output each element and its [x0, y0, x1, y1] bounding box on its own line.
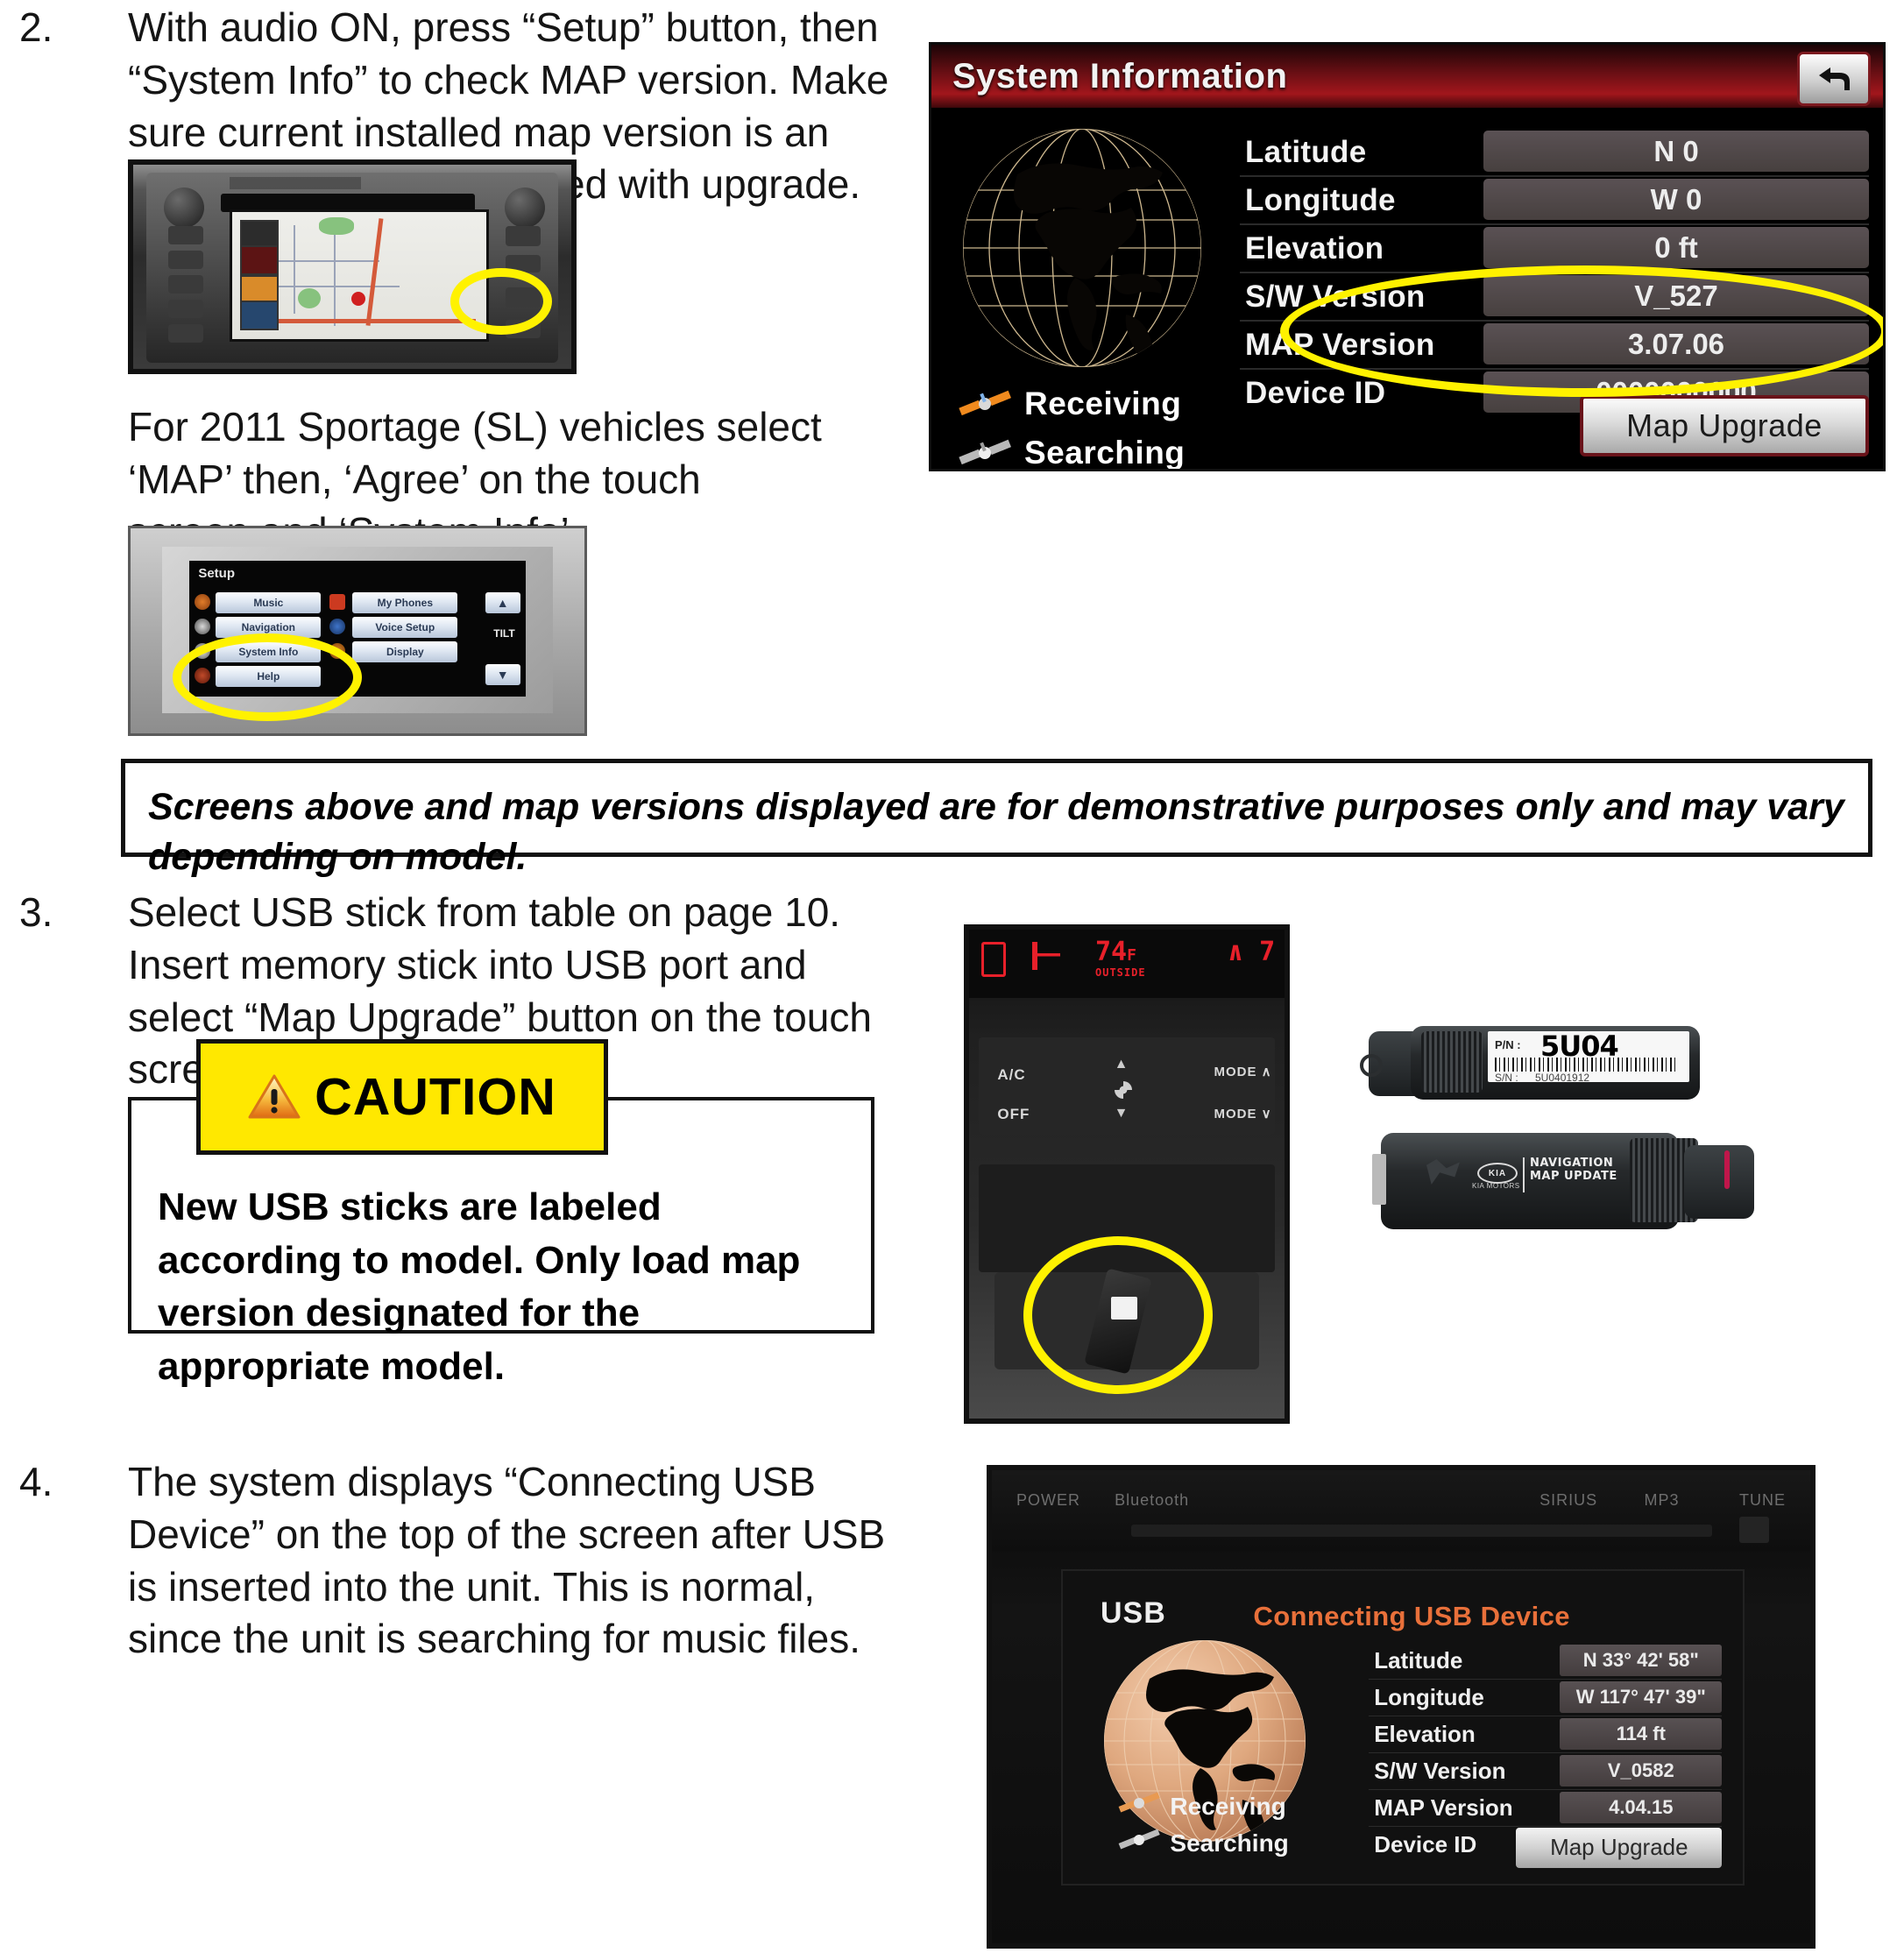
- setup-button-my-phones[interactable]: My Phones: [352, 592, 457, 613]
- tune-label[interactable]: TUNE: [1739, 1491, 1786, 1510]
- usb-barcode: [1495, 1058, 1677, 1072]
- step-3-number: 3.: [19, 888, 53, 936]
- table-row: Elevation 114 ft: [1369, 1716, 1722, 1753]
- row-value: N 0: [1483, 131, 1869, 172]
- usb-print-line2: MAP UPDATE: [1530, 1170, 1617, 1183]
- row-value: 0 ft: [1483, 227, 1869, 268]
- mode-up-button[interactable]: MODE ∧: [1214, 1064, 1271, 1079]
- navigation-map-screen[interactable]: [230, 209, 489, 341]
- map-minor-road: [334, 225, 336, 327]
- table-row: Latitude N 33° 42' 58": [1369, 1643, 1722, 1680]
- lcd-icon-left: [981, 942, 1006, 977]
- fan-icon[interactable]: [1115, 1081, 1132, 1099]
- setup-touchscreen[interactable]: Setup Music Navigation System Info Help …: [189, 561, 525, 696]
- connecting-usb-screen[interactable]: USB Connecting USB Device: [1061, 1569, 1744, 1885]
- satellite-grey-icon: [958, 437, 1012, 469]
- my-phones-icon: [329, 594, 345, 610]
- side-button-setup[interactable]: [506, 287, 541, 308]
- setup-button-help[interactable]: Help: [216, 666, 321, 687]
- satellite-status-label: Receiving: [1024, 386, 1181, 422]
- usb-print-text: NAVIGATION MAP UPDATE: [1530, 1157, 1617, 1184]
- table-row: Longitude W 117° 47' 39": [1369, 1680, 1722, 1716]
- volume-knob: [164, 188, 204, 228]
- side-button-sat[interactable]: [168, 251, 203, 269]
- setup-button-display[interactable]: Display: [352, 641, 457, 662]
- voice-setup-icon: [329, 619, 345, 634]
- satellite-grey-icon: [1117, 1828, 1161, 1858]
- system-info-icon: [195, 643, 210, 659]
- lcd-temp-value: 74: [1095, 937, 1127, 967]
- map-minor-road: [294, 225, 295, 314]
- tilt-label: TILT: [493, 627, 514, 640]
- satellite-status-list: Receiving Searching: [1117, 1788, 1288, 1862]
- caution-banner: CAUTION: [196, 1039, 608, 1155]
- display-text-strip: [230, 177, 361, 189]
- connecting-status-text: Connecting USB Device: [1253, 1601, 1570, 1632]
- usb-stick-grip: [1421, 1031, 1483, 1093]
- satellite-status-item: Receiving: [958, 379, 1185, 428]
- usb-source-label: USB: [1101, 1596, 1166, 1631]
- table-row: Elevation 0 ft: [1240, 225, 1869, 273]
- usb-stick-label: [1111, 1297, 1137, 1320]
- table-row: Longitude W 0: [1240, 177, 1869, 225]
- mp3-label[interactable]: MP3: [1645, 1491, 1680, 1510]
- usb-lanyard-loop: [1360, 1054, 1383, 1077]
- setup-screen-title: Setup: [198, 566, 235, 581]
- globe-graticule: [963, 129, 1201, 367]
- row-value: W 117° 47' 39": [1560, 1681, 1722, 1713]
- map-park-area: [319, 217, 355, 235]
- music-icon: [195, 594, 210, 610]
- navigation-icon: [195, 619, 210, 634]
- usb-stick-cap: [1684, 1145, 1754, 1219]
- satellite-status-item: Searching: [958, 428, 1185, 471]
- sirius-label[interactable]: SIRIUS: [1539, 1491, 1597, 1510]
- chevron-down-icon[interactable]: ▼: [485, 664, 520, 685]
- kia-logo-icon: KIA: [1477, 1163, 1518, 1184]
- storage-tray: [979, 1164, 1275, 1272]
- setup-button-music[interactable]: Music: [216, 592, 321, 613]
- back-arrow-icon[interactable]: [1797, 52, 1871, 106]
- satellite-orange-icon: [958, 388, 1012, 420]
- chevron-up-icon[interactable]: ▲: [1115, 1057, 1129, 1072]
- map-upgrade-button[interactable]: Map Upgrade: [1580, 395, 1869, 456]
- row-key: Elevation: [1369, 1716, 1560, 1752]
- row-value: 4.04.15: [1560, 1792, 1722, 1823]
- setup-button-navigation[interactable]: Navigation: [216, 617, 321, 638]
- row-value: 3.07.06: [1483, 323, 1869, 364]
- satellite-status-item: Receiving: [1117, 1788, 1288, 1825]
- row-key: S/W Version: [1240, 273, 1483, 320]
- warning-triangle-icon: [248, 1073, 301, 1121]
- setup-button-voice-setup[interactable]: Voice Setup: [352, 617, 457, 638]
- system-information-panel[interactable]: System Information: [929, 42, 1886, 471]
- lcd-right-temp: ∧ 7: [1228, 937, 1275, 967]
- row-value: W 0: [1483, 179, 1869, 220]
- usb-print-divider: [1523, 1157, 1525, 1192]
- caution-text: New USB sticks are labeled according to …: [158, 1181, 845, 1394]
- connecting-usb-photo: POWER Bluetooth SIRIUS MP3 TUNE USB Conn…: [987, 1465, 1816, 1949]
- row-key: Device ID: [1240, 370, 1483, 416]
- eject-button[interactable]: [1739, 1517, 1769, 1543]
- display-icon: [329, 643, 345, 659]
- kia-motors-label: KIA MOTORS: [1472, 1182, 1520, 1190]
- row-key: Latitude: [1369, 1643, 1560, 1679]
- system-info-table: Latitude N 0 Longitude W 0 Elevation 0 f…: [1240, 129, 1869, 416]
- caution-body: New USB sticks are labeled according to …: [128, 1155, 874, 1334]
- row-key: Longitude: [1240, 177, 1483, 223]
- chevron-up-icon[interactable]: ▲: [485, 592, 520, 613]
- side-button-seek[interactable]: [168, 300, 203, 318]
- map-side-tile[interactable]: [240, 301, 279, 330]
- side-button-radio[interactable]: [168, 226, 203, 244]
- usb-sn-label: S/N :: [1495, 1072, 1518, 1084]
- row-key: Longitude: [1369, 1680, 1560, 1716]
- system-info-title: System Information: [952, 57, 1287, 96]
- usb-print-line1: NAVIGATION: [1530, 1157, 1613, 1170]
- sportage-setup-photo: Setup Music Navigation System Info Help …: [128, 526, 587, 736]
- satellite-orange-icon: [1117, 1791, 1161, 1822]
- satellite-status-label: Receiving: [1170, 1793, 1285, 1821]
- satellite-status-label: Searching: [1024, 435, 1185, 471]
- map-side-tile[interactable]: [240, 245, 279, 275]
- lcd-temp-unit: F: [1127, 946, 1136, 965]
- bluetooth-label[interactable]: Bluetooth: [1115, 1491, 1189, 1510]
- satellite-status-label: Searching: [1170, 1829, 1288, 1857]
- row-key: MAP Version: [1240, 322, 1483, 368]
- side-button-mode[interactable]: [506, 320, 541, 338]
- caution-box: CAUTION New USB sticks are labeled accor…: [128, 1039, 874, 1334]
- ac-button[interactable]: A/C: [997, 1066, 1025, 1084]
- caution-label: CAUTION: [315, 1067, 556, 1127]
- step-4-number: 4.: [19, 1458, 53, 1505]
- table-row: Latitude N 0: [1240, 129, 1869, 177]
- usb-port-photo: 74F OUTSIDE ∧ 7 A/C OFF MODE ∧ MODE ∨ ▲ …: [964, 924, 1290, 1424]
- satellite-status-list: Receiving Searching: [958, 379, 1185, 471]
- mode-down-button[interactable]: MODE ∨: [1214, 1106, 1271, 1122]
- step-4-text: The system displays “Connecting USB Devi…: [128, 1456, 899, 1666]
- demonstrative-note-box: Screens above and map versions displayed…: [121, 759, 1872, 857]
- row-value: V_527: [1483, 275, 1869, 316]
- side-button-track[interactable]: [168, 324, 203, 343]
- table-row-map-version: MAP Version 3.07.06: [1240, 322, 1869, 370]
- row-value: V_0582: [1560, 1755, 1722, 1787]
- power-label[interactable]: POWER: [1016, 1491, 1080, 1510]
- lcd-seat-icon: [1032, 942, 1060, 970]
- lcd-outside-temp: 74F: [1095, 937, 1136, 967]
- row-key: Elevation: [1240, 225, 1483, 272]
- row-key: MAP Version: [1369, 1790, 1560, 1826]
- usb-red-accent: [1724, 1150, 1730, 1189]
- map-upgrade-button[interactable]: Map Upgrade: [1516, 1828, 1722, 1868]
- climate-lcd: 74F OUTSIDE ∧ 7: [969, 930, 1285, 998]
- usb-sticks-photo: P/N : 5U04 S/N : 5U0401912 KIA KIA MOTOR…: [1341, 1003, 1831, 1310]
- row-value: N 33° 42' 58": [1560, 1645, 1722, 1676]
- row-key: S/W Version: [1369, 1753, 1560, 1789]
- off-button[interactable]: OFF: [997, 1106, 1030, 1123]
- row-value: 114 ft: [1560, 1718, 1722, 1750]
- step-2-number: 2.: [19, 4, 53, 51]
- globe-icon: [963, 129, 1201, 367]
- side-button-disp[interactable]: [506, 255, 541, 273]
- table-row: S/W Version V_0582: [1369, 1753, 1722, 1790]
- cd-slot: [1131, 1525, 1712, 1537]
- help-icon: [195, 668, 210, 683]
- setup-button-system-info[interactable]: System Info: [216, 641, 321, 662]
- usb-sn-value: 5U0401912: [1535, 1072, 1589, 1084]
- usb-connector: [1372, 1154, 1386, 1205]
- headunit-photo: [128, 159, 577, 374]
- tune-knob: [505, 188, 545, 228]
- row-key: Latitude: [1240, 129, 1483, 175]
- side-button-aux[interactable]: [168, 275, 203, 294]
- note-text: Screens above and map versions displayed…: [148, 782, 1845, 882]
- chevron-down-icon[interactable]: ▼: [1115, 1106, 1129, 1122]
- lcd-outside-label: OUTSIDE: [1095, 966, 1146, 979]
- satellite-status-item: Searching: [1117, 1825, 1288, 1862]
- side-button-map-voice[interactable]: [506, 226, 541, 246]
- usb-pn-label: P/N :: [1495, 1038, 1521, 1051]
- head-unit-top-bar: POWER Bluetooth SIRIUS MP3 TUNE: [992, 1470, 1810, 1551]
- table-row: S/W Version V_527: [1240, 273, 1869, 322]
- table-row-map-version: MAP Version 4.04.15: [1369, 1790, 1722, 1827]
